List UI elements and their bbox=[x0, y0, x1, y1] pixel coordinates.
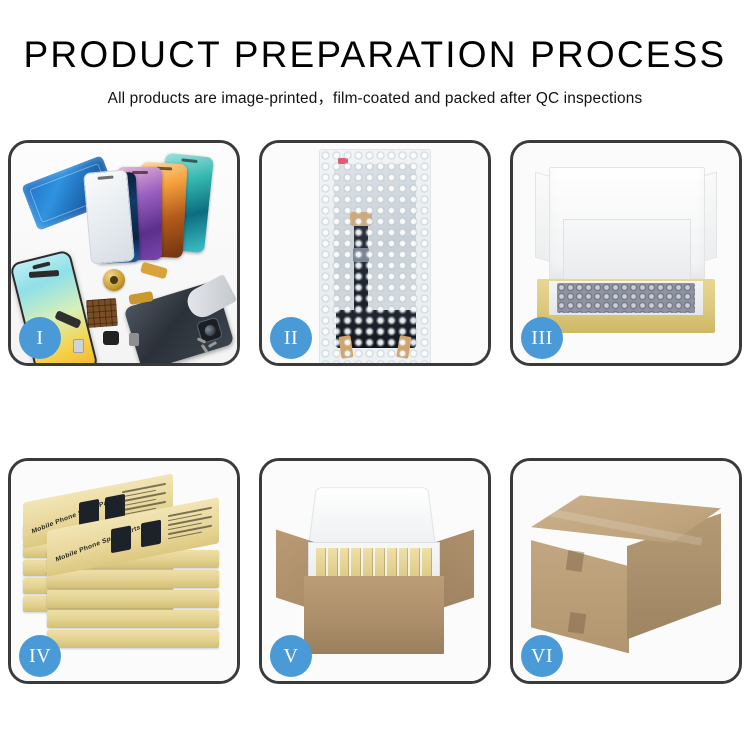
sealed-carton bbox=[531, 495, 721, 655]
button-part bbox=[129, 333, 139, 346]
process-step-card-5: V bbox=[259, 458, 491, 684]
process-step-card-6: VI bbox=[510, 458, 742, 684]
open-gold-box bbox=[531, 167, 721, 339]
foam-lid bbox=[308, 487, 437, 548]
product-preparation-page: PRODUCT PREPARATION PROCESS All products… bbox=[0, 0, 750, 750]
box-front-2 bbox=[47, 570, 219, 588]
step-badge-2: II bbox=[270, 317, 312, 359]
speaker-coil-part bbox=[103, 269, 125, 291]
box-front-3 bbox=[47, 590, 219, 608]
step-badge-3: III bbox=[521, 317, 563, 359]
page-header: PRODUCT PREPARATION PROCESS All products… bbox=[0, 0, 750, 108]
open-carton bbox=[276, 480, 474, 662]
lid-screen-image-1 bbox=[111, 525, 131, 553]
lid-screen-image-2 bbox=[141, 520, 161, 548]
carton-tab-bottom bbox=[568, 612, 587, 634]
small-chip-part bbox=[73, 339, 84, 353]
lid-spec-lines bbox=[168, 507, 212, 543]
screen-protector-glass bbox=[83, 169, 135, 264]
screws-group bbox=[197, 339, 221, 351]
carton-tab-top bbox=[566, 550, 585, 572]
step-badge-4: IV bbox=[19, 635, 61, 677]
box-front-4 bbox=[47, 610, 219, 628]
flex-cable-part-a bbox=[140, 262, 168, 280]
process-step-card-4: Mobile Phone Spare Parts Mobile Phone Sp… bbox=[8, 458, 240, 684]
step-badge-6: VI bbox=[521, 635, 563, 677]
notch-icon bbox=[181, 158, 197, 163]
grey-bubble-wrap-contents bbox=[557, 283, 695, 313]
process-step-card-3: III bbox=[510, 140, 742, 366]
step-badge-1: I bbox=[19, 317, 61, 359]
bubble-texture bbox=[320, 150, 430, 363]
page-subtitle: All products are image-printed，film-coat… bbox=[0, 86, 750, 108]
bubble-wrap-bag bbox=[319, 149, 431, 363]
process-step-grid: I II bbox=[8, 140, 742, 684]
chip-grid-part bbox=[86, 298, 118, 328]
box-front-5 bbox=[47, 630, 219, 648]
carton-body bbox=[304, 576, 444, 654]
process-step-card-1: I bbox=[8, 140, 240, 366]
notch-icon bbox=[97, 175, 113, 179]
step-badge-5: V bbox=[270, 635, 312, 677]
phone-lineup bbox=[87, 153, 237, 263]
foam-sheet bbox=[563, 219, 691, 281]
page-title: PRODUCT PREPARATION PROCESS bbox=[0, 36, 750, 75]
small-camera-part bbox=[103, 331, 119, 345]
process-step-card-2: II bbox=[259, 140, 491, 366]
gold-box-stack: Mobile Phone Spare Parts Mobile Phone Sp… bbox=[21, 480, 227, 662]
